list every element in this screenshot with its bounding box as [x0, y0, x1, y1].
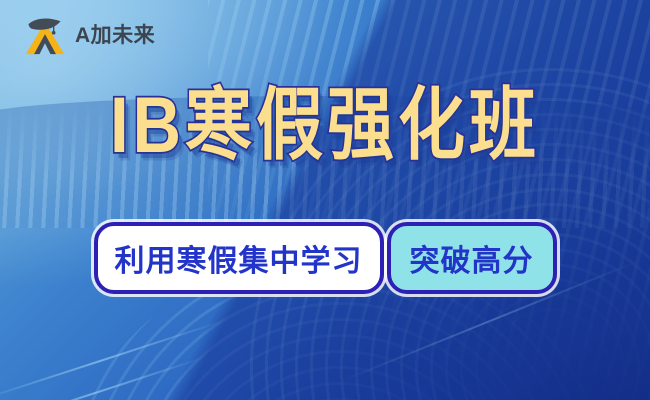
promo-banner: A加未来 IB寒假强化班 利用寒假集中学习 突破高分	[0, 0, 650, 400]
headline-title: IB寒假强化班	[0, 86, 650, 165]
brand-logo[interactable]: A加未来	[22, 14, 155, 56]
subtitle-pill-secondary: 突破高分	[387, 222, 557, 294]
subtitle-pill-primary: 利用寒假集中学习	[94, 222, 384, 294]
background-corner-shadow	[0, 0, 650, 400]
graduation-cap-a-logo-icon	[22, 14, 68, 56]
brand-name: A加未来	[75, 25, 155, 46]
subtitle-row: 利用寒假集中学习 突破高分	[0, 222, 650, 294]
